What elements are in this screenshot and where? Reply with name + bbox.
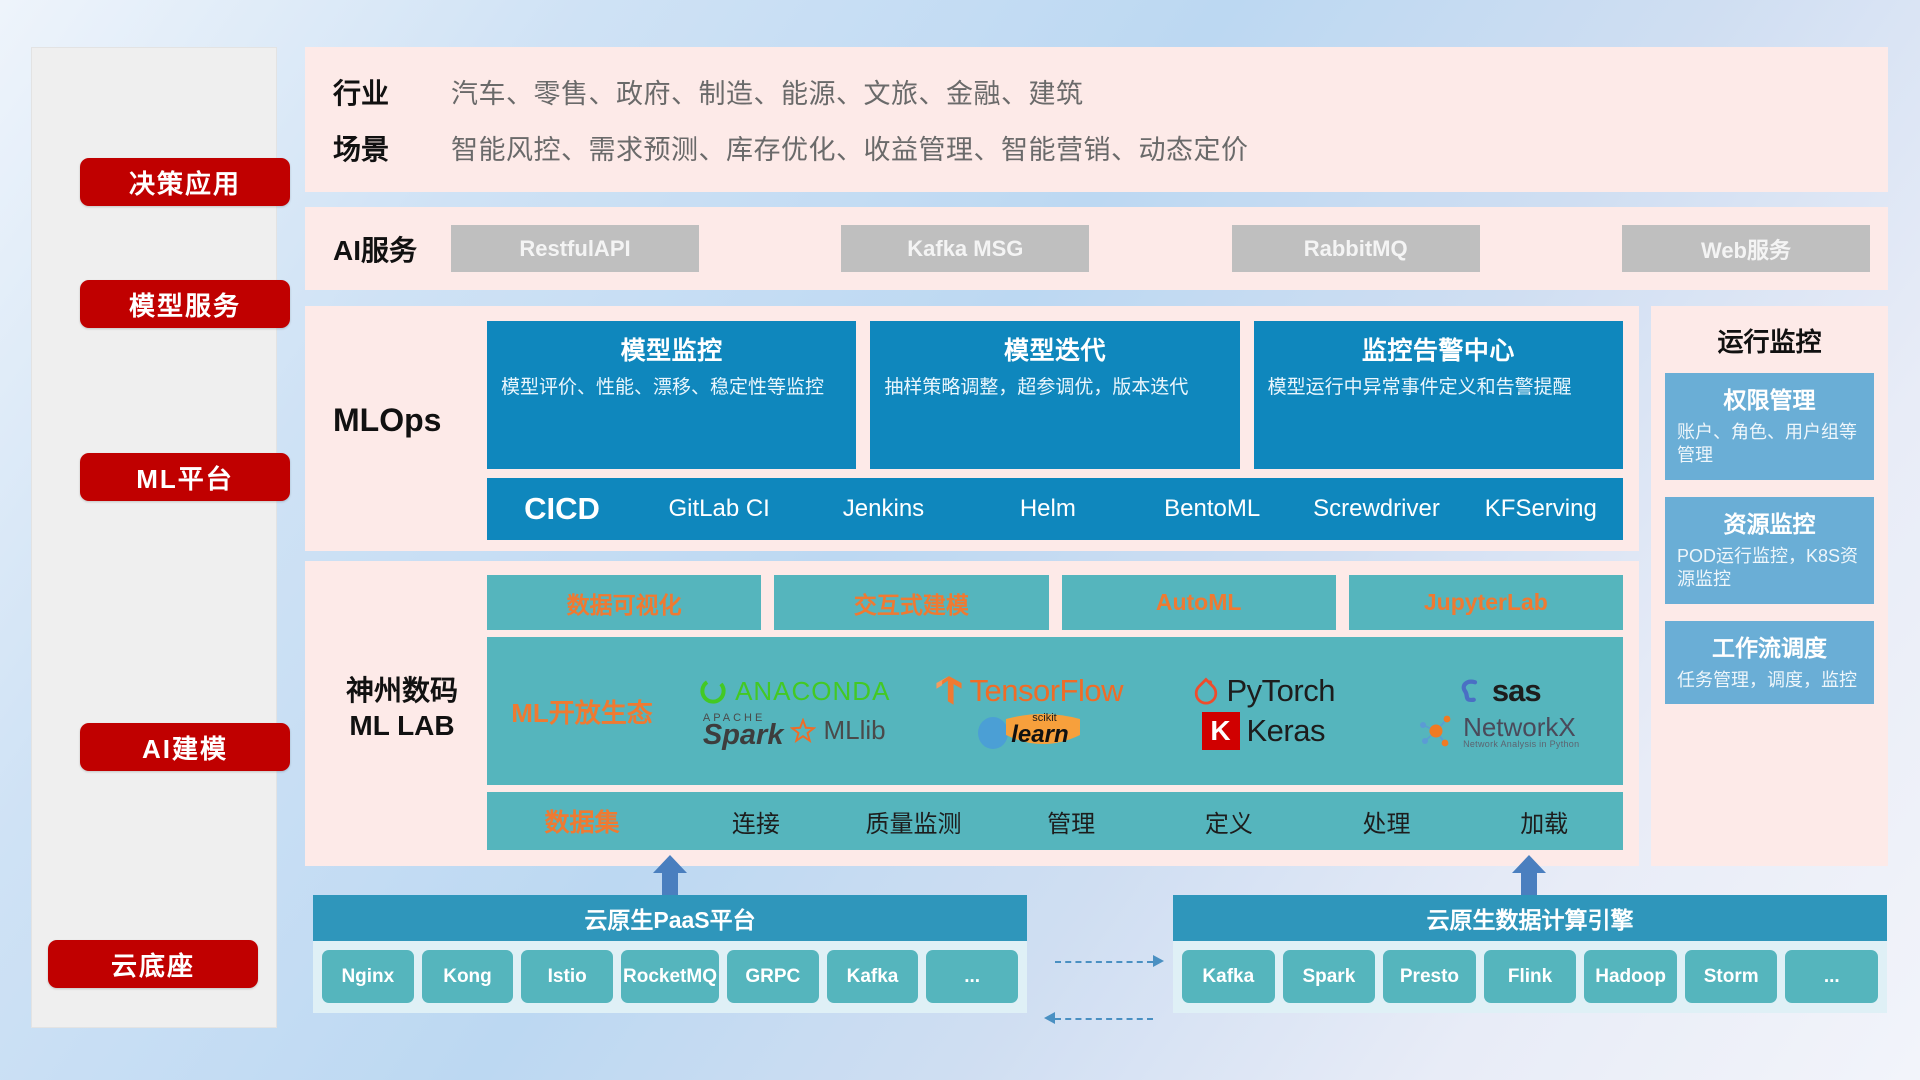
card-title: 模型监控 bbox=[501, 331, 842, 367]
monitor-card-workflow[interactable]: 工作流调度 任务管理，调度，监控 bbox=[1665, 621, 1874, 704]
logo-tensorflow: TensorFlow bbox=[935, 673, 1124, 709]
layer-rail: 决策应用 模型服务 ML平台 AI建模 bbox=[31, 47, 277, 1028]
runtime-monitor-panel: 运行监控 权限管理 账户、角色、用户组等管理 资源监控 POD运行监控，K8S资… bbox=[1651, 306, 1888, 866]
ml-lab-band: 神州数码 ML LAB 数据可视化 交互式建模 AutoML JupyterLa… bbox=[305, 561, 1639, 866]
ai-service-chip-list: RestfulAPI Kafka MSG RabbitMQ Web服务 bbox=[451, 225, 1888, 272]
card-title: 工作流调度 bbox=[1677, 629, 1862, 663]
chip-flink[interactable]: Flink bbox=[1484, 950, 1577, 1003]
scenario-row: 场景 智能风控、需求预测、库存优化、收益管理、智能营销、动态定价 bbox=[333, 128, 1888, 168]
cicd-strip: CICD GitLab CI Jenkins Helm BentoML Scre… bbox=[487, 478, 1623, 540]
service-chip-web-service[interactable]: Web服务 bbox=[1622, 225, 1870, 272]
cloud-compute-box: 云原生数据计算引擎 Kafka Spark Presto Flink Hadoo… bbox=[1173, 895, 1887, 1013]
networkx-graph-icon bbox=[1416, 713, 1456, 749]
dataset-item-process[interactable]: 处理 bbox=[1308, 804, 1466, 839]
dataset-item-define[interactable]: 定义 bbox=[1150, 804, 1308, 839]
sidebar-item-ai-modeling[interactable]: AI建模 bbox=[80, 723, 290, 771]
sidebar-item-label: ML平台 bbox=[136, 459, 234, 496]
ml-lab-label-line2: ML LAB bbox=[327, 708, 477, 743]
industry-row: 行业 汽车、零售、政府、制造、能源、文旅、金融、建筑 bbox=[333, 72, 1888, 112]
logo-label: TensorFlow bbox=[970, 673, 1124, 709]
chip-grpc[interactable]: GRPC bbox=[727, 950, 819, 1003]
mlops-card-model-iteration[interactable]: 模型迭代 抽样策略调整，超参调优，版本迭代 bbox=[870, 321, 1239, 469]
sidebar-item-model-service[interactable]: 模型服务 bbox=[80, 280, 290, 328]
ml-lab-label: 神州数码 ML LAB bbox=[327, 673, 477, 743]
networkx-sublabel: Network Analysis in Python bbox=[1463, 740, 1579, 749]
keras-mark-icon: K bbox=[1202, 712, 1240, 750]
chip-kafka[interactable]: Kafka bbox=[1182, 950, 1275, 1003]
logo-label: PyTorch bbox=[1227, 673, 1335, 709]
monitor-card-resource[interactable]: 资源监控 POD运行监控，K8S资源监控 bbox=[1665, 497, 1874, 604]
spark-star-icon bbox=[790, 718, 816, 744]
ml-lab-label-line1: 神州数码 bbox=[327, 673, 477, 708]
dash-arrow-right-icon bbox=[1153, 955, 1164, 967]
scikit-learn-label: learn bbox=[1011, 721, 1068, 749]
chip-hadoop[interactable]: Hadoop bbox=[1584, 950, 1677, 1003]
spark-word-label: Spark bbox=[703, 723, 784, 748]
chip-kong[interactable]: Kong bbox=[422, 950, 514, 1003]
dataset-item-load[interactable]: 加载 bbox=[1465, 804, 1623, 839]
mlops-label: MLOps bbox=[333, 402, 441, 439]
service-chip-restfulapi[interactable]: RestfulAPI bbox=[451, 225, 699, 272]
ml-open-ecosystem-panel: ML开放生态 ANACONDA TensorFlow bbox=[487, 637, 1623, 785]
logo-networkx: NetworkX Network Analysis in Python bbox=[1416, 713, 1579, 749]
chip-more[interactable]: ... bbox=[1785, 950, 1878, 1003]
sidebar-item-label: AI建模 bbox=[142, 729, 228, 766]
cicd-tool-kfserving[interactable]: KFServing bbox=[1459, 496, 1623, 521]
tab-automl[interactable]: AutoML bbox=[1062, 575, 1336, 630]
chip-presto[interactable]: Presto bbox=[1383, 950, 1476, 1003]
sidebar-item-cloud-base[interactable]: 云底座 bbox=[48, 940, 258, 988]
dash-connector-right bbox=[1055, 961, 1153, 963]
chip-nginx[interactable]: Nginx bbox=[322, 950, 414, 1003]
anaconda-icon bbox=[698, 676, 728, 706]
card-title: 权限管理 bbox=[1677, 381, 1862, 415]
cicd-tool-screwdriver[interactable]: Screwdriver bbox=[1294, 496, 1458, 521]
mlops-card-alert-center[interactable]: 监控告警中心 模型运行中异常事件定义和告警提醒 bbox=[1254, 321, 1623, 469]
sas-icon bbox=[1455, 676, 1485, 706]
card-desc: 账户、角色、用户组等管理 bbox=[1677, 421, 1862, 468]
spark-mllib-label: MLlib bbox=[823, 715, 885, 746]
ml-lab-tab-list: 数据可视化 交互式建模 AutoML JupyterLab bbox=[487, 575, 1623, 630]
scenario-label: 场景 bbox=[333, 128, 451, 168]
tensorflow-icon bbox=[935, 675, 963, 707]
sidebar-item-decision-apps[interactable]: 决策应用 bbox=[80, 158, 290, 206]
monitor-card-permission[interactable]: 权限管理 账户、角色、用户组等管理 bbox=[1665, 373, 1874, 480]
logo-anaconda: ANACONDA bbox=[698, 676, 890, 707]
dataset-item-list: 连接 质量监测 管理 定义 处理 加载 bbox=[677, 804, 1623, 839]
ai-service-label: AI服务 bbox=[333, 229, 451, 269]
cloud-paas-box: 云原生PaaS平台 Nginx Kong Istio RocketMQ GRPC… bbox=[313, 895, 1027, 1013]
sidebar-item-ml-platform[interactable]: ML平台 bbox=[80, 453, 290, 501]
sidebar-item-label: 云底座 bbox=[111, 946, 195, 983]
logo-sas: sas bbox=[1455, 673, 1541, 709]
chip-spark[interactable]: Spark bbox=[1283, 950, 1376, 1003]
logo-label: ANACONDA bbox=[735, 676, 890, 707]
ai-service-band: AI服务 RestfulAPI Kafka MSG RabbitMQ Web服务 bbox=[305, 207, 1888, 290]
dataset-item-connect[interactable]: 连接 bbox=[677, 804, 835, 839]
cicd-tool-helm[interactable]: Helm bbox=[966, 496, 1130, 521]
cicd-tool-gitlab-ci[interactable]: GitLab CI bbox=[637, 496, 801, 521]
diagram-canvas: 决策应用 模型服务 ML平台 AI建模 云底座 行业 汽车、零售、政府、制造、能… bbox=[0, 0, 1920, 1080]
tab-interactive-modeling[interactable]: 交互式建模 bbox=[774, 575, 1048, 630]
dataset-title: 数据集 bbox=[487, 803, 677, 839]
cloud-paas-title: 云原生PaaS平台 bbox=[313, 895, 1027, 941]
chip-storm[interactable]: Storm bbox=[1685, 950, 1778, 1003]
cicd-tool-jenkins[interactable]: Jenkins bbox=[801, 496, 965, 521]
cicd-tool-list: GitLab CI Jenkins Helm BentoML Screwdriv… bbox=[637, 496, 1623, 521]
chip-kafka[interactable]: Kafka bbox=[827, 950, 919, 1003]
tab-jupyterlab[interactable]: JupyterLab bbox=[1349, 575, 1623, 630]
logo-label: Keras bbox=[1247, 713, 1325, 749]
scenario-value: 智能风控、需求预测、库存优化、收益管理、智能营销、动态定价 bbox=[451, 128, 1249, 167]
card-title: 资源监控 bbox=[1677, 505, 1862, 539]
ml-open-ecosystem-title: ML开放生态 bbox=[487, 693, 677, 730]
cloud-compute-chip-list: Kafka Spark Presto Flink Hadoop Storm ..… bbox=[1173, 941, 1887, 1003]
cicd-tool-bentoml[interactable]: BentoML bbox=[1130, 496, 1294, 521]
chip-rocketmq[interactable]: RocketMQ bbox=[621, 950, 719, 1003]
chip-more[interactable]: ... bbox=[926, 950, 1018, 1003]
service-chip-rabbitmq[interactable]: RabbitMQ bbox=[1232, 225, 1480, 272]
industry-label: 行业 bbox=[333, 72, 451, 112]
sidebar-item-label: 模型服务 bbox=[129, 286, 241, 323]
decision-apps-band: 行业 汽车、零售、政府、制造、能源、文旅、金融、建筑 场景 智能风控、需求预测、… bbox=[305, 47, 1888, 192]
dataset-strip: 数据集 连接 质量监测 管理 定义 处理 加载 bbox=[487, 792, 1623, 850]
card-title: 监控告警中心 bbox=[1268, 331, 1609, 367]
service-chip-kafka-msg[interactable]: Kafka MSG bbox=[841, 225, 1089, 272]
logo-label: sas bbox=[1492, 673, 1541, 709]
runtime-monitor-title: 运行监控 bbox=[1665, 322, 1874, 359]
logo-scikit-learn: scikit learn bbox=[975, 711, 1082, 751]
card-title: 模型迭代 bbox=[884, 331, 1225, 367]
tab-data-visualization[interactable]: 数据可视化 bbox=[487, 575, 761, 630]
card-desc: 模型运行中异常事件定义和告警提醒 bbox=[1268, 375, 1609, 400]
industry-value: 汽车、零售、政府、制造、能源、文旅、金融、建筑 bbox=[451, 72, 1084, 111]
dataset-item-quality-monitoring[interactable]: 质量监测 bbox=[835, 804, 993, 839]
logo-label: NetworkX bbox=[1463, 714, 1579, 740]
sidebar-item-label: 决策应用 bbox=[129, 164, 241, 201]
card-desc: 任务管理，调度，监控 bbox=[1677, 669, 1862, 692]
cicd-title: CICD bbox=[487, 491, 637, 527]
cloud-compute-title: 云原生数据计算引擎 bbox=[1173, 895, 1887, 941]
card-desc: POD运行监控，K8S资源监控 bbox=[1677, 545, 1862, 592]
dataset-item-manage[interactable]: 管理 bbox=[992, 804, 1150, 839]
cloud-paas-chip-list: Nginx Kong Istio RocketMQ GRPC Kafka ... bbox=[313, 941, 1027, 1003]
mlops-card-model-monitoring[interactable]: 模型监控 模型评价、性能、漂移、稳定性等监控 bbox=[487, 321, 856, 469]
ecosystem-logo-grid: ANACONDA TensorFlow PyTorch bbox=[677, 671, 1623, 751]
card-desc: 抽样策略调整，超参调优，版本迭代 bbox=[884, 375, 1225, 400]
card-desc: 模型评价、性能、漂移、稳定性等监控 bbox=[501, 375, 842, 400]
logo-pytorch: PyTorch bbox=[1192, 673, 1335, 709]
mlops-card-list: 模型监控 模型评价、性能、漂移、稳定性等监控 模型迭代 抽样策略调整，超参调优，… bbox=[487, 321, 1623, 469]
mlops-band: MLOps 模型监控 模型评价、性能、漂移、稳定性等监控 模型迭代 抽样策略调整… bbox=[305, 306, 1639, 551]
logo-spark-mllib: APACHE Spark MLlib bbox=[703, 714, 886, 748]
logo-keras: K Keras bbox=[1202, 712, 1325, 750]
dash-arrow-left-icon bbox=[1044, 1012, 1055, 1024]
dash-connector-left bbox=[1055, 1018, 1153, 1020]
chip-istio[interactable]: Istio bbox=[521, 950, 613, 1003]
pytorch-icon bbox=[1192, 676, 1220, 706]
